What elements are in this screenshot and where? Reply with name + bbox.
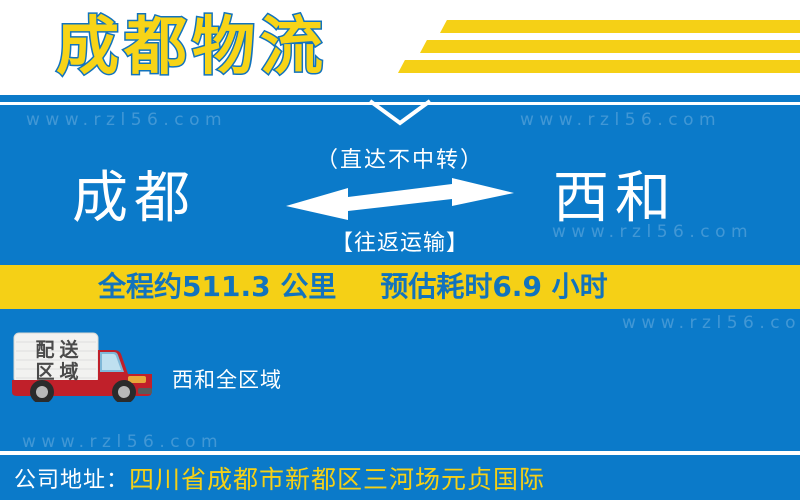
stripe-3 <box>398 60 800 73</box>
truck-box-label: 配送 区域 <box>19 338 95 384</box>
route-note-roundtrip: 【往返运输】 <box>290 225 510 257</box>
watermark: www.rzl56.com <box>26 110 227 130</box>
chevron-down-icon <box>368 97 432 127</box>
route-note-direct: （直达不中转） <box>290 142 510 174</box>
watermark: www.rzl56.com <box>622 313 800 333</box>
truck-box-line1: 配送 <box>30 339 83 361</box>
watermark: www.rzl56.com <box>520 110 721 130</box>
route-origin-city: 成都 <box>72 163 196 235</box>
address-value: 四川省成都市新都区三河场元贞国际 <box>129 460 545 496</box>
banner-header: 成都物流 <box>0 0 800 95</box>
page-title: 成都物流 <box>56 3 328 91</box>
stripe-1 <box>440 20 800 33</box>
logistics-banner: 成都物流 www.rzl56.com www.rzl56.com www.rzl… <box>0 0 800 500</box>
stripe-2 <box>420 40 800 53</box>
stat-duration: 预估耗时6.9 小时 <box>380 265 607 309</box>
decorative-stripes <box>380 0 800 95</box>
coverage-area-label: 西和全区域 <box>172 364 282 394</box>
address-bar: 公司地址： 四川省成都市新都区三河场元贞国际 <box>0 455 800 500</box>
bidirectional-arrow-icon <box>286 178 514 220</box>
stats-bar: 全程约511.3 公里 预估耗时6.9 小时 <box>0 265 800 309</box>
stat-distance: 全程约511.3 公里 <box>98 265 336 309</box>
route-destination-city: 西和 <box>553 163 677 235</box>
address-label: 公司地址： <box>14 462 129 494</box>
truck-box-line2: 区域 <box>30 361 83 383</box>
watermark: www.rzl56.com <box>22 432 223 452</box>
